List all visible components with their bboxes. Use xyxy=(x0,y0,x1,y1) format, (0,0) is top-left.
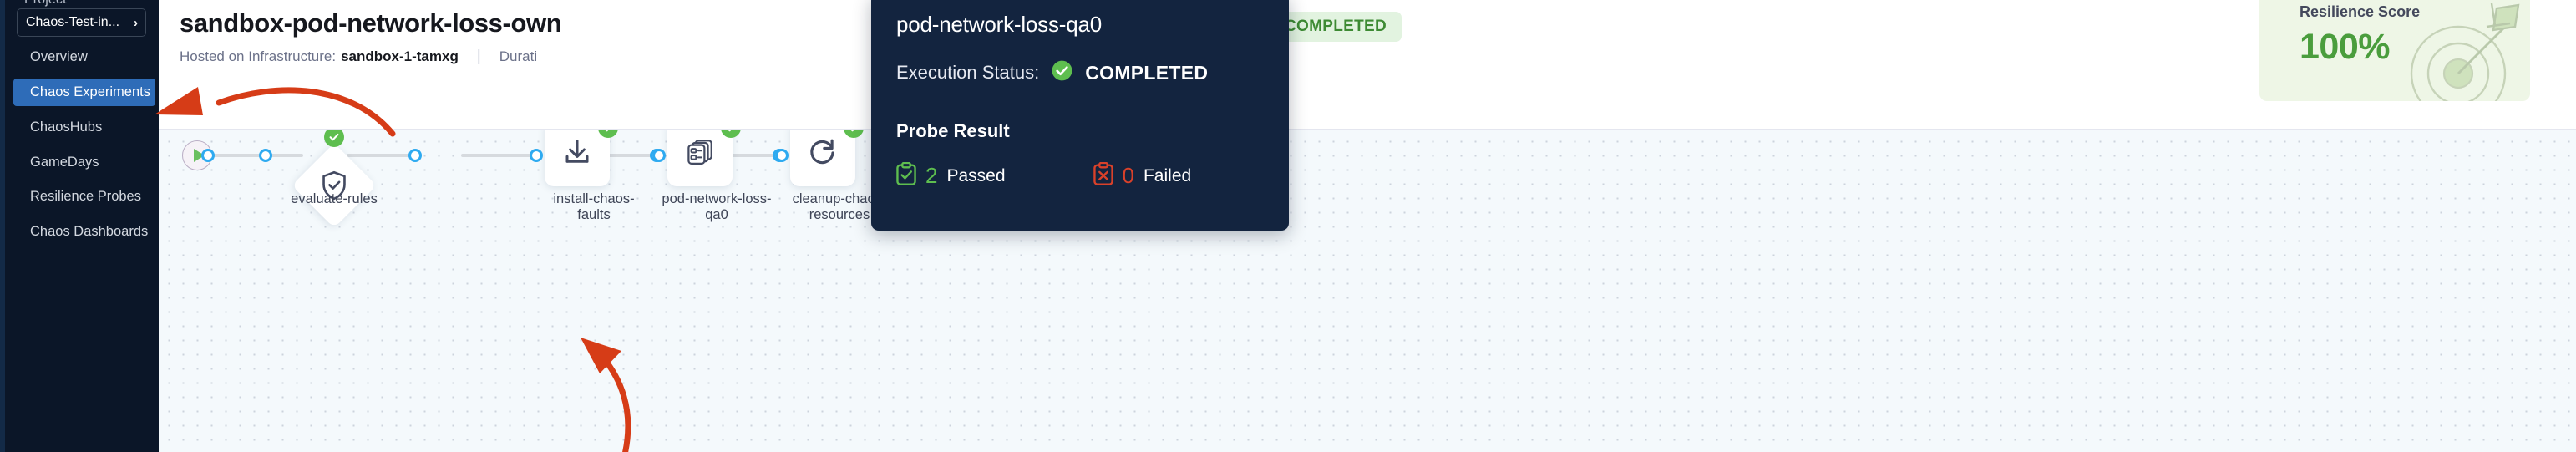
project-selector-value: Chaos-Test-in... xyxy=(26,15,119,30)
tooltip-execution-status-row: Execution Status: COMPLETED xyxy=(896,59,1264,86)
check-circle-icon xyxy=(1051,59,1073,86)
page-header: sandbox-pod-network-loss-own Hosted on I… xyxy=(159,0,2576,130)
node-label-install-chaos-faults: install-chaos- faults xyxy=(531,191,657,223)
resilience-score-card: Resilience Score 100% i xyxy=(2259,0,2530,101)
sidebar-accent-bar xyxy=(0,0,5,452)
probe-passed-cell: 2 Passed xyxy=(896,162,1006,190)
tooltip-divider xyxy=(896,104,1264,104)
header-subline: Hosted on Infrastructure: sandbox-1-tamx… xyxy=(180,48,537,66)
duration-label: Durati xyxy=(499,48,537,65)
refresh-icon xyxy=(808,137,838,171)
clipboard-check-icon xyxy=(896,162,916,190)
project-selector[interactable]: Chaos-Test-in... › xyxy=(17,8,146,37)
tooltip-title: pod-network-loss-qa0 xyxy=(896,12,1264,38)
sidebar-item-label: ChaosHubs xyxy=(30,119,102,135)
chaos-fault-icon xyxy=(686,138,714,170)
status-badge: COMPLETED xyxy=(1270,12,1402,42)
infrastructure-value: sandbox-1-tamxg xyxy=(341,48,459,65)
resilience-score-title: Resilience Score xyxy=(2300,3,2420,21)
port-cleanup-in[interactable] xyxy=(775,149,789,162)
project-label: Project xyxy=(24,0,67,8)
execution-status-label: Execution Status: xyxy=(896,62,1039,84)
chevron-right-icon: › xyxy=(134,17,138,29)
probe-passed-label: Passed xyxy=(946,166,1005,186)
port-start-out[interactable] xyxy=(201,149,215,162)
sidebar-item-label: Chaos Experiments xyxy=(30,84,150,100)
probe-failed-count: 0 xyxy=(1123,163,1134,189)
download-icon xyxy=(562,137,592,171)
pipeline-node-pod-network-loss-qa0[interactable] xyxy=(650,121,750,246)
page-title: sandbox-pod-network-loss-own xyxy=(180,8,561,38)
port-install-in[interactable] xyxy=(530,149,543,162)
sidebar: Project Chaos-Test-in... › Overview Chao… xyxy=(0,0,159,452)
resilience-score-value: 100% xyxy=(2300,27,2390,68)
probe-failed-label: Failed xyxy=(1143,166,1191,186)
sidebar-item-chaos-experiments[interactable]: Chaos Experiments xyxy=(13,79,155,106)
execution-status-value: COMPLETED xyxy=(1085,62,1208,84)
pipeline-node-cleanup-chaos-resources[interactable] xyxy=(773,121,873,246)
sidebar-item-label: Chaos Dashboards xyxy=(30,224,148,240)
sidebar-item-resilience-probes[interactable]: Resilience Probes xyxy=(13,183,155,211)
status-success-icon xyxy=(324,127,344,147)
node-details-tooltip: pod-network-loss-qa0 Execution Status: C… xyxy=(871,0,1289,231)
port-evaluate-out[interactable] xyxy=(408,149,422,162)
pipeline-node-evaluate-rules[interactable] xyxy=(274,125,394,246)
sidebar-item-gamedays[interactable]: GameDays xyxy=(13,149,155,176)
probe-result-row: 2 Passed 0 Failed xyxy=(896,162,1264,190)
pipeline-canvas[interactable]: evaluate-rules install-chaos- xyxy=(159,130,2576,452)
connector-install-to-fault xyxy=(461,154,536,157)
node-label-evaluate-rules: evaluate-rules xyxy=(271,191,397,207)
probe-result-title: Probe Result xyxy=(896,120,1264,142)
clipboard-x-icon xyxy=(1093,162,1113,190)
port-fault-in[interactable] xyxy=(652,149,666,162)
app-root: Project Chaos-Test-in... › Overview Chao… xyxy=(0,0,2576,452)
port-evaluate-in[interactable] xyxy=(259,149,272,162)
sidebar-item-label: Resilience Probes xyxy=(30,189,141,205)
pipeline-node-install-chaos-faults[interactable] xyxy=(527,121,627,246)
sidebar-item-label: GameDays xyxy=(30,155,99,170)
sidebar-item-overview[interactable]: Overview xyxy=(13,43,155,71)
sidebar-item-chaos-dashboards[interactable]: Chaos Dashboards xyxy=(13,218,155,246)
infrastructure-label: Hosted on Infrastructure: xyxy=(180,48,336,65)
node-label-pod-network-loss-qa0: pod-network-loss- qa0 xyxy=(654,191,779,223)
subline-separator: | xyxy=(477,48,481,66)
sidebar-item-chaoshubs[interactable]: ChaosHubs xyxy=(13,114,155,141)
probe-failed-cell: 0 Failed xyxy=(1093,162,1192,190)
sidebar-item-label: Overview xyxy=(30,49,88,65)
probe-passed-count: 2 xyxy=(925,163,937,189)
